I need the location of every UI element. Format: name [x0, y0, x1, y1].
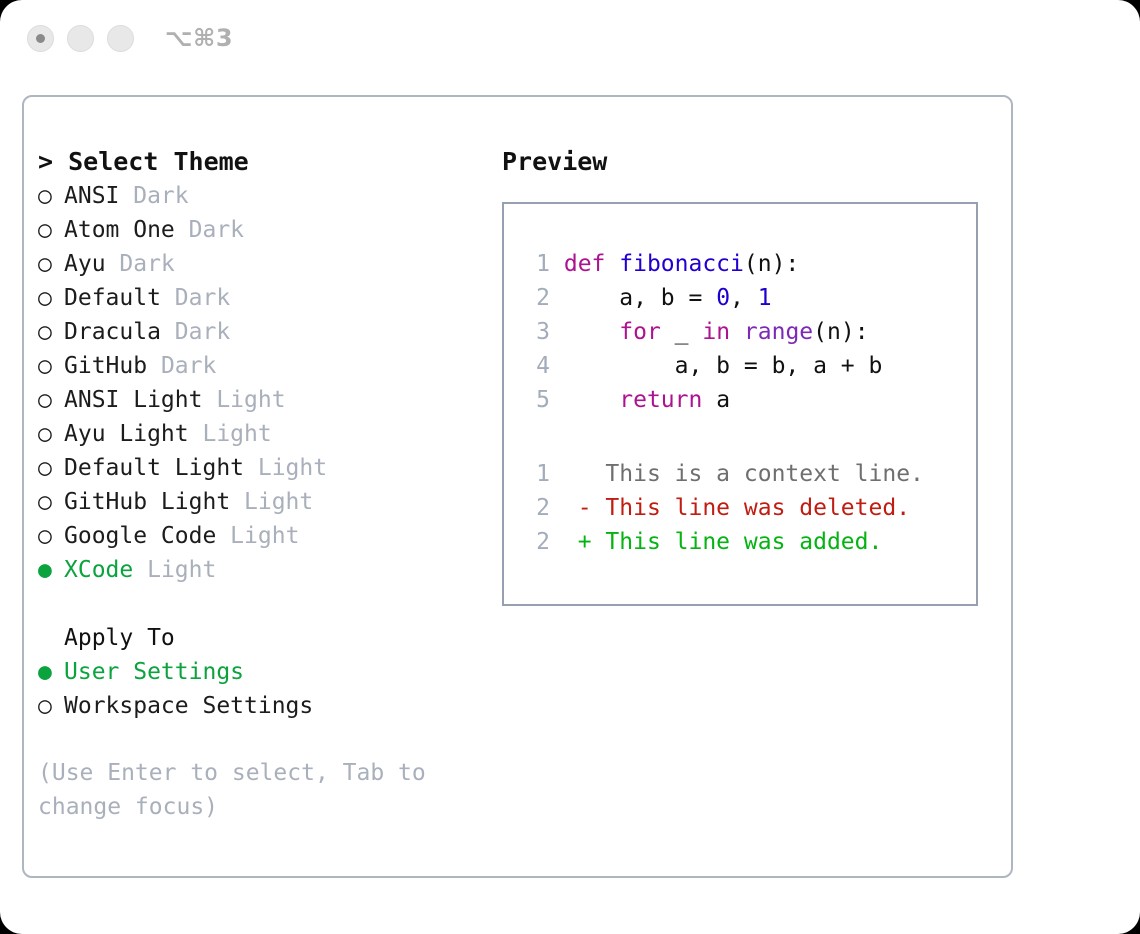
- diff-text: This line was added.: [605, 529, 882, 555]
- theme-item-label: GitHub: [64, 353, 147, 379]
- theme-item-atom-one[interactable]: ○Atom One Dark: [38, 213, 488, 247]
- window-dot-third-icon[interactable]: [107, 25, 134, 52]
- code-line: 1 def fibonacci(n):: [522, 247, 962, 281]
- theme-item-github[interactable]: ○GitHub Dark: [38, 349, 488, 383]
- apply-option-workspace-settings[interactable]: ○Workspace Settings: [38, 689, 488, 723]
- radio-selected-icon: ●: [38, 655, 64, 689]
- keyboard-shortcut-label: ⌥⌘3: [165, 24, 233, 52]
- theme-item-label: XCode: [64, 557, 133, 583]
- apply-to-heading: Apply To: [38, 621, 488, 655]
- radio-unselected-icon: ○: [38, 281, 64, 315]
- diff-marker: -: [578, 495, 606, 521]
- diff-text: This is a context line.: [605, 461, 924, 487]
- theme-item-label: GitHub Light: [64, 489, 230, 515]
- code-line: 3 for _ in range(n):: [522, 315, 962, 349]
- apply-to-list[interactable]: ●User Settings○Workspace Settings: [38, 655, 488, 723]
- code-line: 5 return a: [522, 383, 962, 417]
- apply-to-section: Apply To ●User Settings○Workspace Settin…: [38, 621, 488, 723]
- code-token-call: range: [744, 319, 813, 345]
- theme-item-kind: Dark: [119, 183, 188, 209]
- window-dot-second-icon[interactable]: [67, 25, 94, 52]
- radio-unselected-icon: ○: [38, 689, 64, 723]
- theme-item-dracula[interactable]: ○Dracula Dark: [38, 315, 488, 349]
- radio-unselected-icon: ○: [38, 315, 64, 349]
- radio-unselected-icon: ○: [38, 451, 64, 485]
- theme-item-kind: Light: [133, 557, 216, 583]
- theme-item-kind: Dark: [147, 353, 216, 379]
- theme-item-kind: Dark: [175, 217, 244, 243]
- theme-item-label: Default Light: [64, 455, 244, 481]
- theme-list[interactable]: ○ANSI Dark○Atom One Dark○Ayu Dark○Defaul…: [38, 179, 488, 587]
- diff-line-ctx: 1 This is a context line.: [522, 457, 962, 491]
- theme-item-kind: Light: [216, 523, 299, 549]
- code-token-plain: [564, 319, 619, 345]
- radio-unselected-icon: ○: [38, 213, 64, 247]
- theme-item-kind: Dark: [106, 251, 175, 277]
- theme-item-label: ANSI: [64, 183, 119, 209]
- theme-item-label: Ayu Light: [64, 421, 189, 447]
- diff-line-add: 2 + This line was added.: [522, 525, 962, 559]
- radio-unselected-icon: ○: [38, 383, 64, 417]
- theme-item-label: ANSI Light: [64, 387, 202, 413]
- theme-item-label: Google Code: [64, 523, 216, 549]
- code-token-num: 0: [716, 285, 730, 311]
- code-token-kw: in: [702, 319, 730, 345]
- app-window: ⌥⌘3 > Select Theme ○ANSI Dark○Atom One D…: [0, 0, 1140, 934]
- theme-item-label: Ayu: [64, 251, 106, 277]
- code-line-number: 4: [522, 349, 550, 383]
- theme-item-kind: Light: [189, 421, 272, 447]
- theme-item-kind: Light: [230, 489, 313, 515]
- radio-unselected-icon: ○: [38, 349, 64, 383]
- radio-unselected-icon: ○: [38, 247, 64, 281]
- theme-item-default-light[interactable]: ○Default Light Light: [38, 451, 488, 485]
- preview-box: 1 def fibonacci(n):2 a, b = 0, 13 for _ …: [502, 202, 978, 606]
- code-token-plain: a, b = b, a + b: [564, 353, 883, 379]
- diff-sample: 1 This is a context line.2 - This line w…: [522, 457, 962, 559]
- theme-item-kind: Dark: [161, 319, 230, 345]
- code-token-plain: (n):: [744, 251, 799, 277]
- window-titlebar: ⌥⌘3: [0, 0, 1140, 78]
- theme-item-ayu[interactable]: ○Ayu Dark: [38, 247, 488, 281]
- keyboard-hint-text: (Use Enter to select, Tab to change focu…: [38, 756, 448, 824]
- code-line-number: 1: [522, 247, 550, 281]
- theme-item-ayu-light[interactable]: ○Ayu Light Light: [38, 417, 488, 451]
- theme-item-ansi[interactable]: ○ANSI Dark: [38, 179, 488, 213]
- window-dot-active-icon[interactable]: [27, 25, 54, 52]
- code-line: 2 a, b = 0, 1: [522, 281, 962, 315]
- theme-item-label: Atom One: [64, 217, 175, 243]
- code-token-plain: ,: [730, 285, 758, 311]
- theme-item-default[interactable]: ○Default Dark: [38, 281, 488, 315]
- theme-item-label: Dracula: [64, 319, 161, 345]
- theme-item-kind: Light: [202, 387, 285, 413]
- theme-item-ansi-light[interactable]: ○ANSI Light Light: [38, 383, 488, 417]
- theme-item-kind: Light: [244, 455, 327, 481]
- diff-text: This line was deleted.: [605, 495, 910, 521]
- code-token-plain: _: [661, 319, 703, 345]
- radio-unselected-icon: ○: [38, 519, 64, 553]
- theme-item-xcode[interactable]: ●XCode Light: [38, 553, 488, 587]
- code-token-fn: fibonacci: [619, 251, 744, 277]
- main-panel: > Select Theme ○ANSI Dark○Atom One Dark○…: [22, 95, 1013, 878]
- preview-heading: Preview: [502, 145, 1002, 179]
- code-line-number: 5: [522, 383, 550, 417]
- apply-option-label: User Settings: [64, 659, 244, 685]
- diff-line-del: 2 - This line was deleted.: [522, 491, 962, 525]
- select-theme-heading: > Select Theme: [38, 145, 488, 179]
- radio-selected-icon: ●: [38, 553, 64, 587]
- radio-unselected-icon: ○: [38, 179, 64, 213]
- window-controls: [27, 25, 134, 52]
- theme-item-label: Default: [64, 285, 161, 311]
- code-token-plain: (n):: [813, 319, 868, 345]
- code-token-num: 1: [758, 285, 772, 311]
- preview-column: Preview 1 def fibonacci(n):2 a, b = 0, 1…: [502, 145, 1002, 606]
- code-line: 4 a, b = b, a + b: [522, 349, 962, 383]
- apply-option-label: Workspace Settings: [64, 693, 313, 719]
- code-sample: 1 def fibonacci(n):2 a, b = 0, 13 for _ …: [522, 247, 962, 417]
- code-token-kw: return: [619, 387, 702, 413]
- diff-line-number: 2: [522, 491, 550, 525]
- theme-item-google-code[interactable]: ○Google Code Light: [38, 519, 488, 553]
- code-token-plain: [564, 387, 619, 413]
- code-token-plain: a, b =: [564, 285, 716, 311]
- code-line-number: 3: [522, 315, 550, 349]
- diff-line-number: 1: [522, 457, 550, 491]
- diff-marker: +: [578, 529, 606, 555]
- radio-unselected-icon: ○: [38, 485, 64, 519]
- code-token-kw: def: [564, 251, 619, 277]
- code-token-plain: [730, 319, 744, 345]
- radio-unselected-icon: ○: [38, 417, 64, 451]
- diff-marker: [578, 461, 606, 487]
- apply-option-user-settings[interactable]: ●User Settings: [38, 655, 488, 689]
- theme-selector-column: > Select Theme ○ANSI Dark○Atom One Dark○…: [38, 145, 488, 824]
- code-line-number: 2: [522, 281, 550, 315]
- theme-item-github-light[interactable]: ○GitHub Light Light: [38, 485, 488, 519]
- code-token-kw: for: [619, 319, 661, 345]
- theme-item-kind: Dark: [161, 285, 230, 311]
- code-token-plain: a: [702, 387, 730, 413]
- diff-line-number: 2: [522, 525, 550, 559]
